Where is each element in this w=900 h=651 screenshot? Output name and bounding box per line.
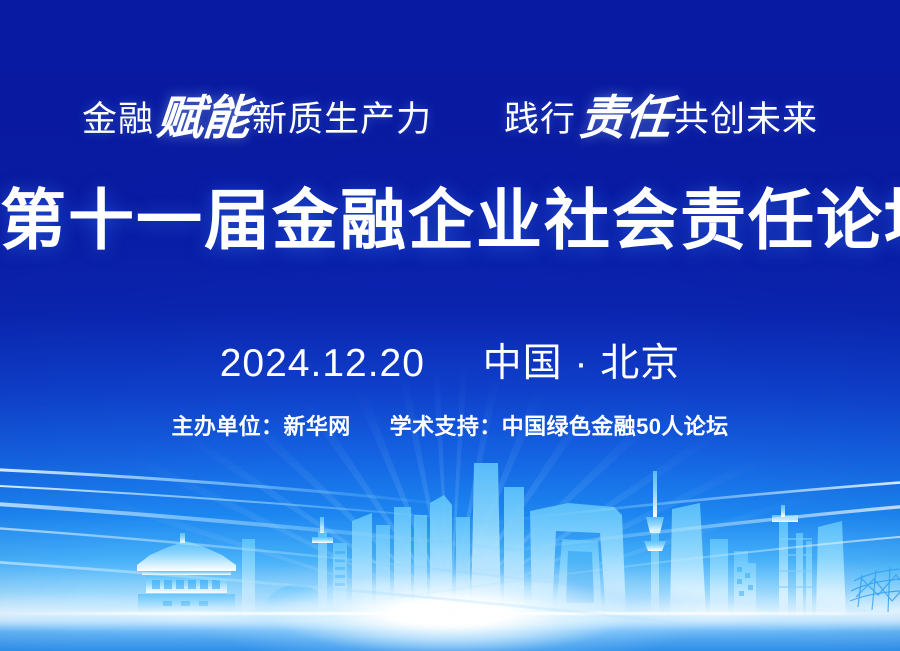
tagline-left-suffix: 新质生产力 [252, 102, 432, 137]
horizon-line [0, 612, 900, 615]
tagline-left-brush: 赋能 [155, 95, 251, 142]
tagline-right-suffix: 共创未来 [674, 102, 818, 137]
forum-poster: 金融 赋能 新质生产力 践行 责任 共创未来 第十一届金融企业社会责任论坛 20… [0, 0, 900, 651]
academic-support-label: 学术支持：中国绿色金融50人论坛 [390, 414, 729, 439]
tagline-left: 金融 赋能 新质生产力 [82, 92, 432, 139]
horizon-glow-core [190, 553, 710, 651]
event-date-location: 2024.12.20 中国 · 北京 [0, 332, 900, 388]
page-title: 第十一届金融企业社会责任论坛 [0, 186, 900, 255]
credits-row: 主办单位：新华网 学术支持：中国绿色金融50人论坛 [0, 409, 900, 441]
event-location: 中国 · 北京 [483, 342, 681, 385]
tagline-right-prefix: 践行 [504, 102, 576, 137]
tagline-right-brush: 责任 [577, 95, 673, 142]
tagline-right: 践行 责任 共创未来 [504, 92, 818, 139]
event-date: 2024.12.20 [220, 342, 425, 385]
host-label: 主办单位：新华网 [171, 414, 350, 439]
tagline-left-prefix: 金融 [82, 102, 154, 137]
tagline-row: 金融 赋能 新质生产力 践行 责任 共创未来 [0, 92, 900, 139]
